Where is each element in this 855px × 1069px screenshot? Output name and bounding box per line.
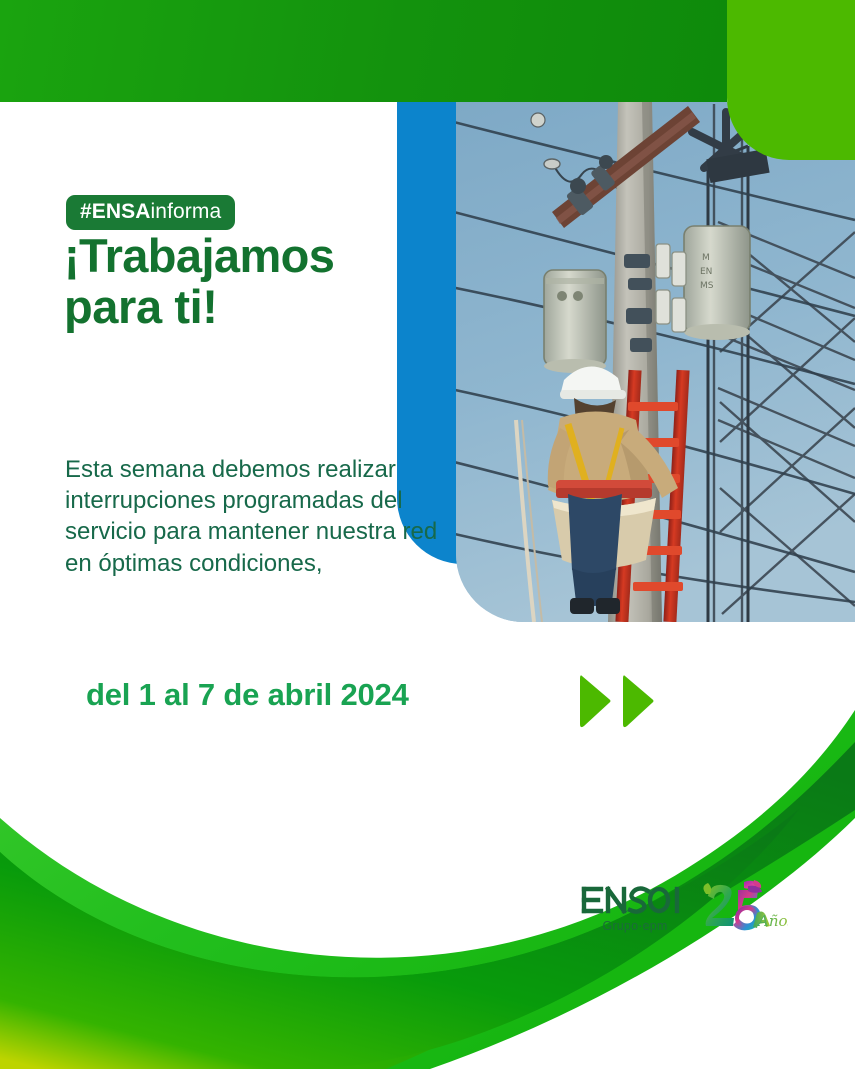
date-range-label: del 1 al 7 de abril 2024 [86, 677, 409, 713]
ensa-informa-poster: M EN MS [0, 0, 855, 1069]
ensa-logo: Grupo·epm [580, 884, 690, 933]
hashtag-badge: #ENSAinforma [66, 195, 235, 230]
svg-text:M: M [702, 253, 710, 263]
headline-line-1: ¡Trabajamos [64, 232, 334, 279]
lineman-photo: M EN MS [456, 102, 855, 622]
footer-logo-group: Grupo·epm [580, 884, 810, 954]
anniversary-25-anos-logo: Años [700, 880, 788, 936]
top-right-bright-green-block [727, 0, 855, 160]
svg-text:MS: MS [700, 281, 714, 291]
body-paragraph: Esta semana debemos realizar interrupcio… [65, 454, 447, 579]
svg-text:EN: EN [700, 267, 712, 277]
top-green-band [0, 0, 727, 102]
headline-line-2: para ti! [64, 283, 334, 330]
badge-suffix: informa [151, 200, 222, 223]
double-chevron-right-icon [578, 672, 655, 730]
badge-hashtag: #ENSA [80, 200, 151, 223]
svg-text:Años: Años [756, 912, 788, 930]
bottom-wave-decoration [0, 560, 855, 1069]
page-title: ¡Trabajamos para ti! [64, 232, 334, 330]
ensa-logo-subtitle: Grupo·epm [580, 919, 690, 933]
